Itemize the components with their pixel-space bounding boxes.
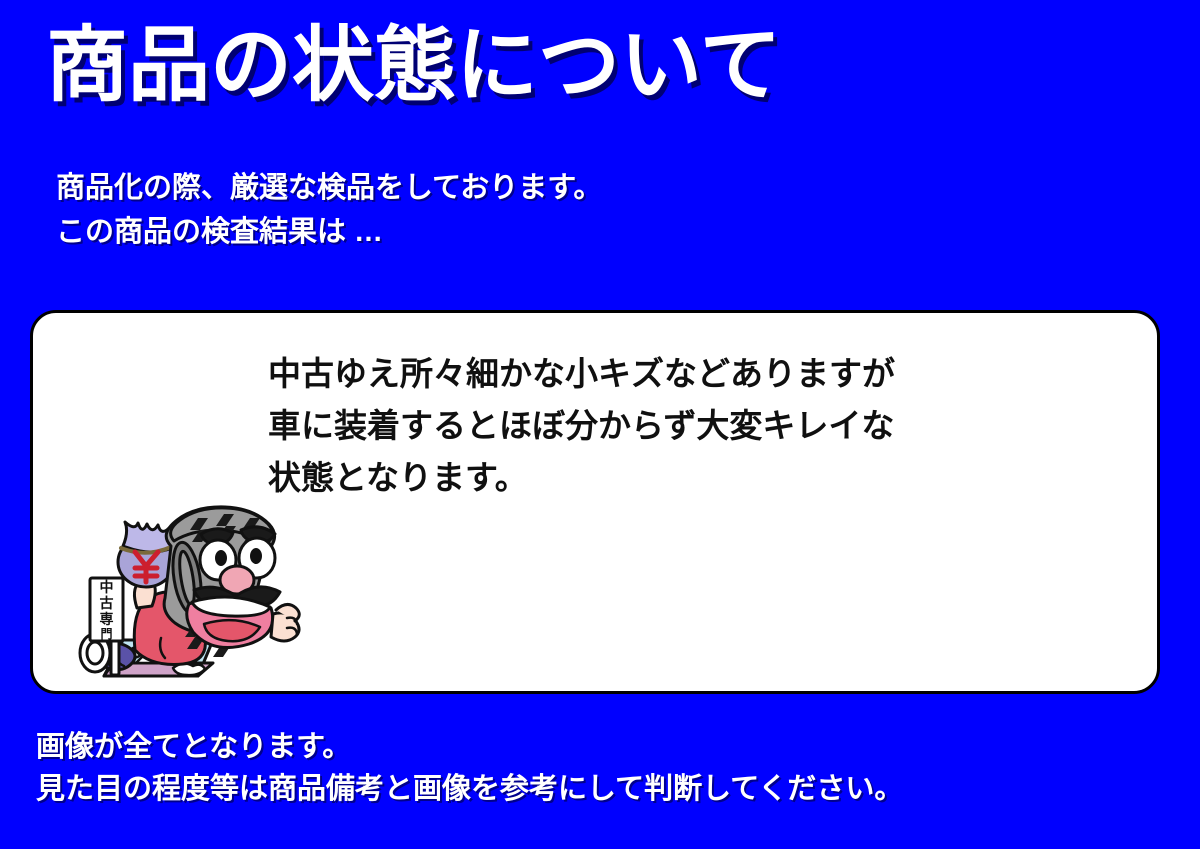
intro-text-block: 商品化の際、厳選な検品をしております。 この商品の検査結果は … — [56, 166, 1136, 254]
footer-line-2: 見た目の程度等は商品備考と画像を参考にして判断してください。 — [36, 768, 1176, 810]
condition-line-2: 車に装着するとほぼ分からず大変キレイな — [268, 400, 1128, 452]
condition-text-block: 中古ゆえ所々細かな小キズなどありますが 車に装着するとほぼ分からず大変キレイな … — [268, 348, 1128, 504]
page-title: 商品の状態について — [46, 14, 1146, 118]
intro-line-1: 商品化の際、厳選な検品をしております。 — [56, 166, 1136, 210]
product-condition-banner: 商品の状態について 商品化の際、厳選な検品をしております。 この商品の検査結果は… — [0, 0, 1200, 849]
condition-line-3: 状態となります。 — [268, 452, 1128, 504]
svg-text:門: 門 — [100, 627, 112, 641]
tire-character-mascot-icon: 中 古 専 門 — [61, 498, 306, 688]
condition-line-1: 中古ゆえ所々細かな小キズなどありますが — [268, 348, 1128, 400]
intro-line-2: この商品の検査結果は … — [56, 210, 1136, 254]
footer-text-block: 画像が全てとなります。 見た目の程度等は商品備考と画像を参考にして判断してくださ… — [36, 726, 1176, 810]
svg-text:古: 古 — [100, 595, 114, 612]
svg-text:中: 中 — [100, 579, 114, 596]
svg-text:専: 専 — [100, 611, 114, 628]
condition-card: 中古ゆえ所々細かな小キズなどありますが 車に装着するとほぼ分からず大変キレイな … — [30, 310, 1160, 694]
footer-line-1: 画像が全てとなります。 — [36, 726, 1176, 768]
